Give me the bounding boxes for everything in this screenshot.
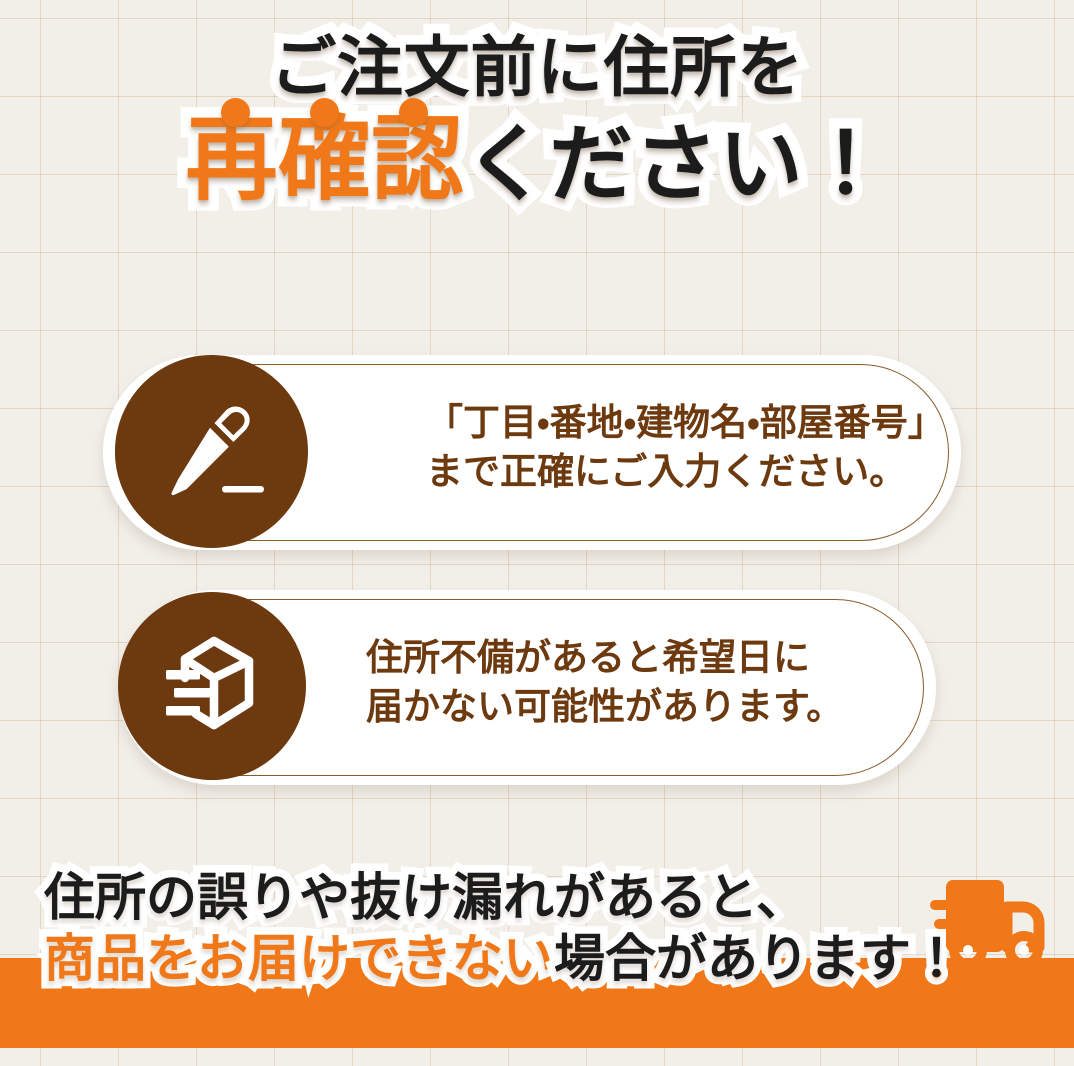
emphasis-dot-icon bbox=[399, 98, 428, 127]
package-icon bbox=[152, 626, 272, 746]
pencil-icon bbox=[153, 393, 271, 511]
card-2-icon-badge bbox=[118, 592, 306, 780]
bottom-message: 住所の誤りや抜け漏れがあると、 商品をお届けできない場合があります！ bbox=[44, 872, 962, 984]
bottom-line-1: 住所の誤りや抜け漏れがあると、 bbox=[44, 872, 962, 923]
emphasis-dots bbox=[192, 98, 459, 127]
delivery-truck-icon bbox=[930, 872, 1048, 972]
emphasis-dot-icon bbox=[221, 98, 250, 127]
poster-root: ご注文前に住所を 再確認 ください！ 「丁目・番地・建物名・部屋番号」 まで正確… bbox=[0, 0, 1074, 1066]
card-1-line-2: まで正確にご入力ください。 bbox=[426, 448, 945, 497]
card-2-text: 住所不備があると希望日に 届かない可能性があります。 bbox=[366, 634, 843, 732]
headline-line-2-rest: ください！ bbox=[464, 122, 888, 206]
card-2-line-1: 住所不備があると希望日に bbox=[366, 634, 843, 683]
headline-line-2: 再確認 ください！ bbox=[0, 114, 1074, 206]
card-2-line-2: 届かない可能性があります。 bbox=[366, 683, 843, 732]
headline: ご注文前に住所を 再確認 ください！ bbox=[0, 34, 1074, 206]
card-1-text: 「丁目・番地・建物名・部屋番号」 まで正確にご入力ください。 bbox=[426, 399, 945, 497]
card-1-icon-badge bbox=[115, 355, 308, 548]
headline-line-1-text: ご注文前に住所を bbox=[270, 34, 803, 100]
bottom-line-2-orange: 商品をお届けできない bbox=[44, 933, 554, 984]
card-1-line-1: 「丁目・番地・建物名・部屋番号」 bbox=[426, 399, 945, 448]
emphasis-dot-icon bbox=[310, 98, 339, 127]
headline-emphasis-group: 再確認 bbox=[186, 114, 465, 206]
headline-line-1: ご注文前に住所を bbox=[0, 34, 1074, 100]
bottom-line-1-text: 住所の誤りや抜け漏れがあると、 bbox=[44, 872, 807, 923]
bottom-line-2-rest: 場合があります！ bbox=[554, 933, 962, 984]
delivery-truck-icon-svg bbox=[930, 872, 1048, 972]
headline-emphasis-text: 再確認 bbox=[186, 114, 465, 206]
bottom-line-2: 商品をお届けできない場合があります！ bbox=[44, 933, 962, 984]
